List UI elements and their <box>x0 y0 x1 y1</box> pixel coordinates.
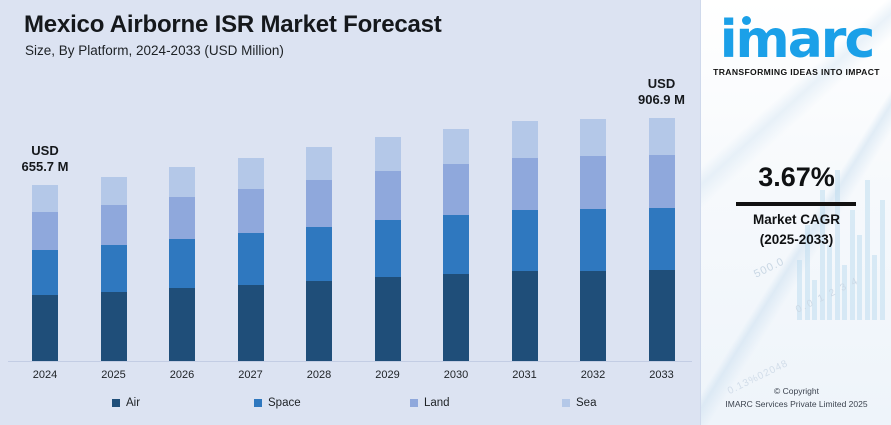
bar-segment-sea[interactable] <box>649 118 675 155</box>
copyright-notice: © Copyright IMARC Services Private Limit… <box>701 385 891 411</box>
stacked-bar[interactable] <box>580 119 606 361</box>
bar-segment-space[interactable] <box>580 209 606 271</box>
bar-segment-space[interactable] <box>443 215 469 274</box>
bar-segment-air[interactable] <box>649 270 675 361</box>
bar-group-2032[interactable]: 2032 <box>565 0 621 425</box>
stacked-bar[interactable] <box>375 137 401 361</box>
stacked-bar[interactable] <box>443 129 469 361</box>
bar-segment-space[interactable] <box>512 210 538 271</box>
imarc-logo: imarc TRANSFORMING IDEAS INTO IMPACT <box>701 14 891 77</box>
bar-segment-sea[interactable] <box>306 147 332 180</box>
copyright-line-2: IMARC Services Private Limited 2025 <box>701 398 891 411</box>
bar-group-2031[interactable]: 2031 <box>497 0 553 425</box>
bar-segment-space[interactable] <box>375 220 401 277</box>
copyright-line-1: © Copyright <box>701 385 891 398</box>
bar-segment-air[interactable] <box>169 288 195 361</box>
chart-screenshot: Mexico Airborne ISR Market Forecast Size… <box>0 0 891 425</box>
last-value-callout: USD906.9 M <box>638 76 685 108</box>
stacked-bar[interactable] <box>101 177 127 361</box>
cagr-label: Market CAGR <box>701 212 891 227</box>
bar-segment-sea[interactable] <box>443 129 469 164</box>
bar-group-2026[interactable]: 2026 <box>154 0 210 425</box>
callout-currency: USD <box>22 143 69 159</box>
bar-segment-space[interactable] <box>169 239 195 288</box>
bar-segment-air[interactable] <box>512 271 538 361</box>
legend-item-sea[interactable]: Sea <box>562 397 596 409</box>
x-axis-label-2024: 2024 <box>17 369 73 381</box>
bar-group-2030[interactable]: 2030 <box>428 0 484 425</box>
x-axis-label-2030: 2030 <box>428 369 484 381</box>
stacked-bar[interactable] <box>238 158 264 361</box>
x-axis-label-2031: 2031 <box>497 369 553 381</box>
bar-segment-land[interactable] <box>101 205 127 245</box>
cagr-value: 3.67% <box>701 162 891 193</box>
bar-segment-space[interactable] <box>649 208 675 270</box>
callout-value: 906.9 M <box>638 92 685 108</box>
x-axis-label-2033: 2033 <box>634 369 690 381</box>
bar-segment-air[interactable] <box>580 271 606 361</box>
legend-label: Land <box>424 397 450 409</box>
decorative-bar <box>865 180 870 320</box>
bar-group-2029[interactable]: 2029 <box>360 0 416 425</box>
bar-segment-air[interactable] <box>238 285 264 361</box>
stacked-bar[interactable] <box>512 121 538 361</box>
legend-swatch-icon <box>254 399 262 407</box>
bar-segment-sea[interactable] <box>238 158 264 189</box>
legend-swatch-icon <box>562 399 570 407</box>
legend-item-space[interactable]: Space <box>254 397 301 409</box>
bar-segment-air[interactable] <box>32 295 58 361</box>
legend-swatch-icon <box>112 399 120 407</box>
bar-group-2033[interactable]: 2033USD906.9 M <box>634 0 690 425</box>
x-axis-label-2027: 2027 <box>223 369 279 381</box>
cagr-divider <box>736 202 856 206</box>
bar-segment-land[interactable] <box>375 171 401 220</box>
bar-segment-sea[interactable] <box>580 119 606 156</box>
bar-segment-land[interactable] <box>169 197 195 239</box>
logo-dot-icon <box>742 16 751 25</box>
legend-label: Sea <box>576 397 596 409</box>
x-axis-label-2026: 2026 <box>154 369 210 381</box>
brand-panel: 500.0 0.0 1 2 3 4 0.13%02048 imarc TRANS… <box>700 0 891 425</box>
bar-segment-sea[interactable] <box>169 167 195 197</box>
bar-segment-space[interactable] <box>32 250 58 295</box>
x-axis-label-2025: 2025 <box>86 369 142 381</box>
bar-segment-land[interactable] <box>32 212 58 250</box>
x-axis-label-2029: 2029 <box>360 369 416 381</box>
legend-label: Space <box>268 397 301 409</box>
legend-label: Air <box>126 397 140 409</box>
bar-group-2025[interactable]: 2025 <box>86 0 142 425</box>
decorative-bar <box>872 255 877 320</box>
chart-legend: AirSpaceLandSea <box>0 397 700 417</box>
stacked-bar[interactable] <box>169 167 195 361</box>
bar-segment-land[interactable] <box>580 156 606 209</box>
bar-segment-sea[interactable] <box>32 185 58 212</box>
chart-panel: Mexico Airborne ISR Market Forecast Size… <box>0 0 700 425</box>
bar-segment-land[interactable] <box>512 158 538 210</box>
stacked-bar[interactable] <box>306 147 332 361</box>
cagr-period: (2025-2033) <box>701 232 891 247</box>
bar-segment-sea[interactable] <box>512 121 538 158</box>
bar-group-2028[interactable]: 2028 <box>291 0 347 425</box>
legend-item-land[interactable]: Land <box>410 397 450 409</box>
bar-segment-space[interactable] <box>238 233 264 285</box>
first-value-callout: USD655.7 M <box>22 143 69 175</box>
bar-segment-space[interactable] <box>306 227 332 281</box>
bar-segment-land[interactable] <box>443 164 469 215</box>
bar-segment-sea[interactable] <box>375 137 401 171</box>
bar-segment-air[interactable] <box>306 281 332 361</box>
callout-currency: USD <box>638 76 685 92</box>
decorative-bar <box>827 245 832 320</box>
bar-segment-air[interactable] <box>375 277 401 361</box>
stacked-bar[interactable] <box>649 118 675 361</box>
stacked-bar[interactable] <box>32 185 58 361</box>
bar-segment-land[interactable] <box>306 180 332 227</box>
legend-swatch-icon <box>410 399 418 407</box>
bar-segment-sea[interactable] <box>101 177 127 205</box>
bar-segment-land[interactable] <box>238 189 264 233</box>
bar-segment-space[interactable] <box>101 245 127 292</box>
x-axis-label-2032: 2032 <box>565 369 621 381</box>
bar-group-2024[interactable]: 2024USD655.7 M <box>17 0 73 425</box>
bar-segment-air[interactable] <box>443 274 469 361</box>
bar-segment-land[interactable] <box>649 155 675 208</box>
callout-value: 655.7 M <box>22 159 69 175</box>
bar-segment-air[interactable] <box>101 292 127 361</box>
bar-group-2027[interactable]: 2027 <box>223 0 279 425</box>
x-axis-label-2028: 2028 <box>291 369 347 381</box>
legend-item-air[interactable]: Air <box>112 397 140 409</box>
